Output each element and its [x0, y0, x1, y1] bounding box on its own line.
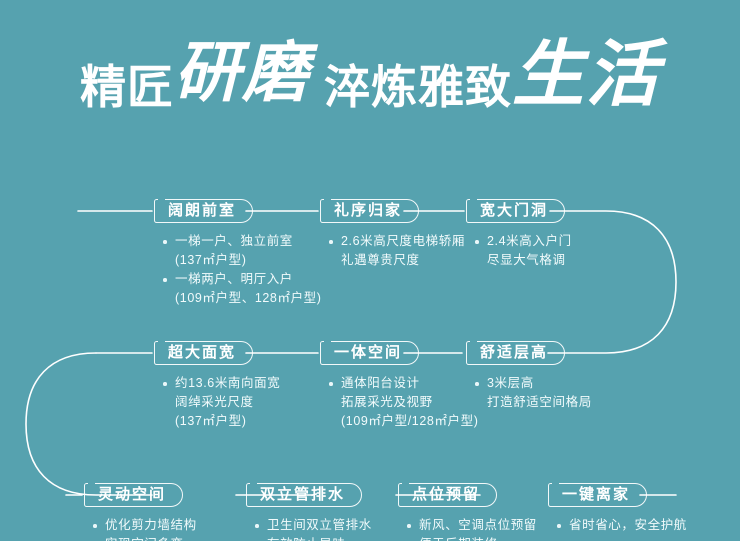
- feature-card-bullets: 2.4米高入户门 尽显大气格调: [474, 232, 572, 270]
- feature-card-bullets: 新风、空调点位预留 便于后期装修: [406, 516, 537, 541]
- bullet-item: 优化剪力墙结构: [92, 516, 197, 535]
- bullet-item: 有效防止异味: [254, 535, 372, 541]
- bullet-item: 通体阳台设计: [328, 374, 479, 393]
- bullet-item: (109㎡户型、128㎡户型): [162, 289, 322, 308]
- feature-card-title: 一体空间: [320, 341, 419, 365]
- feature-card[interactable]: 灵动空间 优化剪力墙结构 实现空间多变: [84, 483, 197, 541]
- bullet-item: (137㎡户型): [162, 251, 322, 270]
- feature-card[interactable]: 点位预留 新风、空调点位预留 便于后期装修: [398, 483, 537, 541]
- feature-card-bullets: 优化剪力墙结构 实现空间多变: [92, 516, 197, 541]
- feature-card-title: 点位预留: [398, 483, 497, 507]
- bullet-item: 礼遇尊贵尺度: [328, 251, 465, 270]
- feature-card[interactable]: 舒适层高 3米层高 打造舒适空间格局: [466, 341, 592, 412]
- bullet-item: 一梯一户、独立前室: [162, 232, 322, 251]
- bullet-item: 打造舒适空间格局: [474, 393, 592, 412]
- bullet-item: 一梯两户、明厅入户: [162, 270, 322, 289]
- bullet-item: 省时省心，安全护航: [556, 516, 687, 535]
- feature-card[interactable]: 双立管排水 卫生间双立管排水 有效防止异味: [246, 483, 372, 541]
- serpentine-connector: [0, 0, 740, 541]
- feature-card-title: 双立管排水: [246, 483, 362, 507]
- feature-card-title: 礼序归家: [320, 199, 419, 223]
- feature-card-bullets: 约13.6米南向面宽 阔绰采光尺度 (137㎡户型): [162, 374, 280, 431]
- feature-card[interactable]: 超大面宽 约13.6米南向面宽 阔绰采光尺度 (137㎡户型): [154, 341, 280, 431]
- bullet-item: 阔绰采光尺度: [162, 393, 280, 412]
- bullet-item: 拓展采光及视野: [328, 393, 479, 412]
- bullet-item: 新风、空调点位预留: [406, 516, 537, 535]
- bullet-item: (109㎡户型/128㎡户型): [328, 412, 479, 431]
- bullet-item: 便于后期装修: [406, 535, 537, 541]
- bullet-item: 2.4米高入户门: [474, 232, 572, 251]
- feature-card[interactable]: 礼序归家 2.6米高尺度电梯轿厢 礼遇尊贵尺度: [320, 199, 465, 270]
- feature-card-title: 超大面宽: [154, 341, 253, 365]
- feature-card[interactable]: 一键离家 省时省心，安全护航: [548, 483, 687, 535]
- feature-card-title: 一键离家: [548, 483, 647, 507]
- bullet-item: (137㎡户型): [162, 412, 280, 431]
- feature-card[interactable]: 宽大门洞 2.4米高入户门 尽显大气格调: [466, 199, 572, 270]
- feature-card-bullets: 3米层高 打造舒适空间格局: [474, 374, 592, 412]
- bullet-item: 3米层高: [474, 374, 592, 393]
- feature-card-bullets: 卫生间双立管排水 有效防止异味: [254, 516, 372, 541]
- feature-card[interactable]: 阔朗前室 一梯一户、独立前室 (137㎡户型) 一梯两户、明厅入户 (109㎡户…: [154, 199, 322, 308]
- bullet-item: 尽显大气格调: [474, 251, 572, 270]
- bullet-item: 实现空间多变: [92, 535, 197, 541]
- poster-canvas: 精匠研磨淬炼雅致生活 阔朗前室 一梯一户、独立前室 (137㎡户型) 一梯两户、…: [0, 0, 740, 541]
- feature-card-title: 宽大门洞: [466, 199, 565, 223]
- feature-card-bullets: 一梯一户、独立前室 (137㎡户型) 一梯两户、明厅入户 (109㎡户型、128…: [162, 232, 322, 308]
- feature-card-bullets: 省时省心，安全护航: [556, 516, 687, 535]
- feature-card-bullets: 通体阳台设计 拓展采光及视野 (109㎡户型/128㎡户型): [328, 374, 479, 431]
- feature-card-title: 舒适层高: [466, 341, 565, 365]
- feature-card-bullets: 2.6米高尺度电梯轿厢 礼遇尊贵尺度: [328, 232, 465, 270]
- feature-card[interactable]: 一体空间 通体阳台设计 拓展采光及视野 (109㎡户型/128㎡户型): [320, 341, 479, 431]
- feature-card-title: 阔朗前室: [154, 199, 253, 223]
- feature-card-title: 灵动空间: [84, 483, 183, 507]
- bullet-item: 2.6米高尺度电梯轿厢: [328, 232, 465, 251]
- bullet-item: 约13.6米南向面宽: [162, 374, 280, 393]
- bullet-item: 卫生间双立管排水: [254, 516, 372, 535]
